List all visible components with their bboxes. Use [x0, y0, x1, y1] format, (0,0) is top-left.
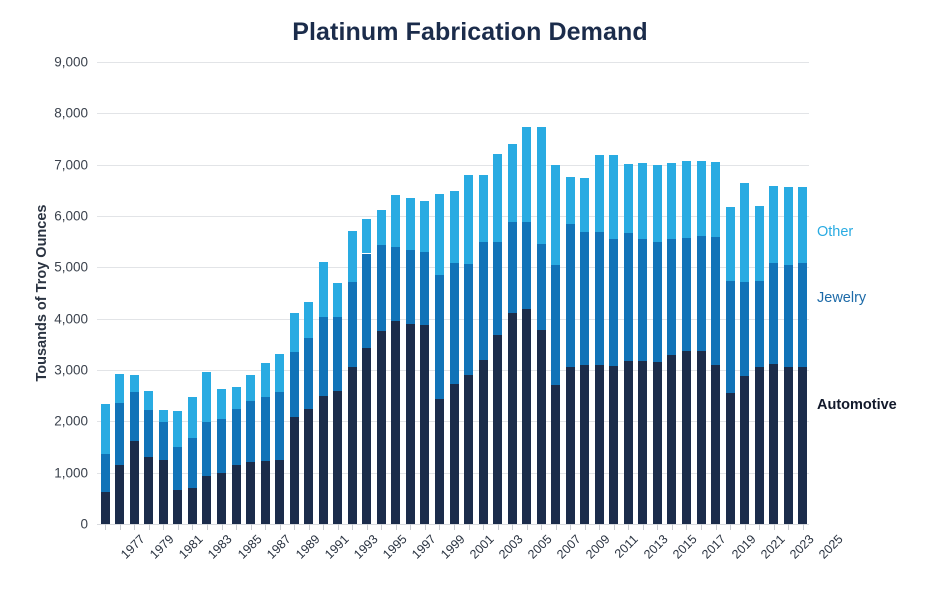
x-axis-tick-label: 2011 — [612, 532, 641, 561]
x-axis-tick-label: 1987 — [264, 532, 294, 562]
bar-segment-other[interactable] — [522, 127, 531, 221]
bar-segment-automotive[interactable] — [653, 362, 662, 524]
x-axis-tick-mark — [628, 524, 629, 530]
x-axis-tick-mark — [512, 524, 513, 530]
bar-segment-automotive[interactable] — [130, 441, 139, 524]
x-axis-tick-label: 2019 — [729, 532, 759, 562]
x-axis-tick-label: 2021 — [758, 532, 788, 562]
bar-segment-automotive[interactable] — [580, 365, 589, 524]
bar-segment-other[interactable] — [580, 178, 589, 233]
bar-segment-jewelry[interactable] — [798, 263, 807, 367]
bar-segment-jewelry[interactable] — [551, 265, 560, 385]
bar-segment-automotive[interactable] — [290, 417, 299, 524]
bar-segment-other[interactable] — [362, 219, 371, 254]
bar-group[interactable] — [697, 161, 706, 524]
bar-group[interactable] — [246, 375, 255, 524]
bar-segment-other[interactable] — [624, 164, 633, 233]
x-axis-tick-label: 2017 — [700, 532, 730, 562]
bar-segment-other[interactable] — [493, 154, 502, 241]
x-axis-tick-mark — [236, 524, 237, 530]
bar-group[interactable] — [798, 187, 807, 524]
page-title: Platinum Fabrication Demand — [0, 18, 940, 47]
bar-segment-other[interactable] — [348, 231, 357, 282]
bar-segment-jewelry[interactable] — [682, 238, 691, 350]
bar-segment-other[interactable] — [464, 175, 473, 264]
bar-segment-other[interactable] — [435, 194, 444, 274]
bar-segment-other[interactable] — [508, 144, 517, 222]
bar-segment-other[interactable] — [653, 165, 662, 242]
bar-group[interactable] — [624, 164, 633, 524]
bar-segment-other[interactable] — [391, 195, 400, 246]
bar-segment-jewelry[interactable] — [740, 282, 749, 376]
bar-group[interactable] — [551, 165, 560, 524]
bar-segment-jewelry[interactable] — [159, 422, 168, 460]
bar-segment-other[interactable] — [304, 302, 313, 338]
bar-group[interactable] — [653, 165, 662, 524]
bar-segment-jewelry[interactable] — [450, 263, 459, 384]
bars-layer — [97, 62, 809, 524]
bar-group[interactable] — [682, 161, 691, 524]
bar-group[interactable] — [130, 375, 139, 524]
bar-group[interactable] — [261, 363, 270, 524]
bar-segment-jewelry[interactable] — [115, 403, 124, 465]
bar-segment-automotive[interactable] — [391, 321, 400, 524]
bar-segment-jewelry[interactable] — [101, 454, 110, 492]
bar-segment-automotive[interactable] — [202, 476, 211, 524]
bar-segment-jewelry[interactable] — [232, 409, 241, 465]
bar-segment-jewelry[interactable] — [435, 275, 444, 400]
bar-segment-automotive[interactable] — [450, 384, 459, 524]
bar-group[interactable] — [493, 154, 502, 524]
bar-segment-automotive[interactable] — [755, 367, 764, 524]
bar-segment-jewelry[interactable] — [566, 224, 575, 367]
x-axis-tick-label: 1979 — [147, 532, 177, 562]
bar-segment-automotive[interactable] — [638, 361, 647, 524]
bar-segment-jewelry[interactable] — [304, 338, 313, 408]
x-axis-tick-mark — [541, 524, 542, 530]
bar-group[interactable] — [144, 391, 153, 524]
legend-item-jewelry[interactable]: Jewelry — [817, 290, 866, 306]
bar-segment-automotive[interactable] — [362, 348, 371, 524]
bar-segment-jewelry[interactable] — [275, 392, 284, 460]
bar-segment-other[interactable] — [798, 187, 807, 263]
x-axis-tick-mark — [686, 524, 687, 530]
bar-segment-jewelry[interactable] — [406, 250, 415, 324]
bar-segment-other[interactable] — [290, 313, 299, 352]
x-axis-tick-mark — [134, 524, 135, 530]
x-axis-tick-label: 2005 — [525, 532, 555, 562]
bar-segment-automotive[interactable] — [508, 313, 517, 524]
bar-segment-other[interactable] — [595, 155, 604, 232]
y-axis-tick-label: 3,000 — [18, 363, 88, 378]
x-axis-tick-mark — [222, 524, 223, 530]
bar-segment-automotive[interactable] — [522, 309, 531, 524]
bar-segment-other[interactable] — [479, 175, 488, 242]
bar-segment-automotive[interactable] — [333, 391, 342, 524]
x-axis-tick-mark — [759, 524, 760, 530]
x-axis-tick-mark — [294, 524, 295, 530]
x-axis-tick-mark — [469, 524, 470, 530]
bar-segment-automotive[interactable] — [537, 330, 546, 524]
x-axis-tick-label: 2009 — [583, 532, 613, 562]
bar-segment-automotive[interactable] — [798, 367, 807, 524]
bar-segment-automotive[interactable] — [173, 490, 182, 524]
bar-segment-other[interactable] — [217, 389, 226, 419]
bar-group[interactable] — [115, 374, 124, 524]
chart-container: Platinum Fabrication Demand Tousands of … — [0, 0, 940, 600]
x-axis-tick-mark — [745, 524, 746, 530]
bar-group[interactable] — [711, 162, 720, 524]
bar-segment-automotive[interactable] — [784, 367, 793, 524]
bar-segment-other[interactable] — [609, 155, 618, 239]
bar-segment-other[interactable] — [261, 363, 270, 396]
bar-segment-jewelry[interactable] — [711, 237, 720, 365]
x-axis-tick-mark — [425, 524, 426, 530]
x-axis-tick-label: 1989 — [293, 532, 323, 562]
x-axis-tick-mark — [105, 524, 106, 530]
bar-group[interactable] — [188, 397, 197, 524]
bar-segment-jewelry[interactable] — [362, 254, 371, 349]
bar-segment-jewelry[interactable] — [667, 239, 676, 355]
bar-group[interactable] — [275, 354, 284, 524]
bar-group[interactable] — [508, 144, 517, 524]
bar-segment-jewelry[interactable] — [290, 352, 299, 418]
legend-item-automotive[interactable]: Automotive — [817, 397, 897, 413]
x-axis-tick-mark — [149, 524, 150, 530]
bar-group[interactable] — [667, 163, 676, 524]
bar-segment-other[interactable] — [406, 198, 415, 250]
bar-segment-jewelry[interactable] — [609, 239, 618, 366]
x-axis-tick-mark — [323, 524, 324, 530]
bar-segment-other[interactable] — [333, 283, 342, 317]
bar-group[interactable] — [609, 155, 618, 524]
bar-segment-automotive[interactable] — [232, 465, 241, 524]
bar-segment-other[interactable] — [769, 186, 778, 262]
bar-segment-automotive[interactable] — [493, 335, 502, 524]
bar-segment-automotive[interactable] — [740, 376, 749, 524]
bar-group[interactable] — [755, 206, 764, 524]
bar-segment-other[interactable] — [144, 391, 153, 411]
y-axis-title: Tousands of Troy Ounces — [34, 163, 50, 423]
x-axis-tick-label: 2001 — [467, 532, 497, 562]
plot-area: 1977197919811983198519871989199119931995… — [97, 62, 809, 524]
bar-segment-automotive[interactable] — [726, 393, 735, 524]
x-axis-tick-label: 1983 — [206, 532, 236, 562]
y-axis-tick-label: 2,000 — [18, 414, 88, 429]
x-axis-tick-mark — [251, 524, 252, 530]
bar-group[interactable] — [319, 262, 328, 524]
gridline — [97, 524, 809, 525]
bar-segment-jewelry[interactable] — [464, 264, 473, 375]
bar-segment-jewelry[interactable] — [493, 242, 502, 335]
x-axis-tick-mark — [178, 524, 179, 530]
bar-segment-jewelry[interactable] — [261, 397, 270, 461]
bar-segment-other[interactable] — [667, 163, 676, 239]
bar-segment-other[interactable] — [784, 187, 793, 265]
bar-segment-jewelry[interactable] — [769, 263, 778, 364]
x-axis-tick-mark — [352, 524, 353, 530]
bar-segment-automotive[interactable] — [595, 365, 604, 524]
x-axis-tick-mark — [774, 524, 775, 530]
bar-group[interactable] — [726, 207, 735, 524]
bar-segment-other[interactable] — [377, 210, 386, 244]
bar-segment-automotive[interactable] — [479, 360, 488, 524]
bar-segment-automotive[interactable] — [304, 409, 313, 525]
bar-segment-jewelry[interactable] — [130, 392, 139, 441]
y-axis-tick-label: 7,000 — [18, 157, 88, 172]
bar-segment-automotive[interactable] — [115, 465, 124, 524]
x-axis-tick-mark — [338, 524, 339, 530]
bar-group[interactable] — [232, 387, 241, 524]
bar-segment-other[interactable] — [232, 387, 241, 409]
bar-segment-automotive[interactable] — [217, 473, 226, 524]
x-axis-tick-mark — [585, 524, 586, 530]
x-axis-tick-mark — [483, 524, 484, 530]
bar-segment-other[interactable] — [275, 354, 284, 392]
x-axis-tick-mark — [498, 524, 499, 530]
bar-segment-other[interactable] — [755, 206, 764, 281]
bar-segment-jewelry[interactable] — [391, 247, 400, 321]
bar-group[interactable] — [537, 127, 546, 524]
bar-group[interactable] — [406, 198, 415, 524]
x-axis-tick-mark — [788, 524, 789, 530]
bar-segment-other[interactable] — [697, 161, 706, 236]
bar-segment-automotive[interactable] — [435, 399, 444, 524]
x-axis-tick-mark — [120, 524, 121, 530]
bar-segment-automotive[interactable] — [682, 351, 691, 525]
bar-segment-jewelry[interactable] — [420, 252, 429, 325]
bar-group[interactable] — [769, 186, 778, 524]
x-axis-tick-mark — [556, 524, 557, 530]
bar-segment-jewelry[interactable] — [580, 232, 589, 364]
bar-segment-other[interactable] — [202, 372, 211, 422]
bar-group[interactable] — [580, 178, 589, 525]
bar-segment-other[interactable] — [551, 165, 560, 265]
x-axis-tick-mark — [527, 524, 528, 530]
bar-segment-automotive[interactable] — [624, 361, 633, 524]
x-axis-tick-mark — [163, 524, 164, 530]
y-axis-tick-label: 0 — [18, 517, 88, 532]
x-axis-tick-label: 1981 — [177, 532, 207, 562]
bar-segment-other[interactable] — [726, 207, 735, 281]
bar-segment-automotive[interactable] — [101, 492, 110, 524]
bar-segment-other[interactable] — [188, 397, 197, 438]
x-axis-tick-mark — [701, 524, 702, 530]
bar-segment-automotive[interactable] — [566, 367, 575, 524]
x-axis-tick-label: 2013 — [642, 532, 672, 562]
bar-segment-automotive[interactable] — [275, 460, 284, 524]
bar-group[interactable] — [450, 191, 459, 524]
bar-segment-jewelry[interactable] — [188, 438, 197, 488]
bar-segment-jewelry[interactable] — [333, 317, 342, 391]
bar-segment-automotive[interactable] — [667, 355, 676, 524]
bar-group[interactable] — [391, 195, 400, 524]
bar-segment-other[interactable] — [450, 191, 459, 263]
bar-segment-automotive[interactable] — [769, 364, 778, 524]
y-axis-tick-label: 4,000 — [18, 311, 88, 326]
bar-segment-jewelry[interactable] — [624, 233, 633, 361]
x-axis-tick-mark — [803, 524, 804, 530]
x-axis-tick-label: 1991 — [322, 532, 352, 562]
bar-group[interactable] — [173, 411, 182, 524]
bar-segment-jewelry[interactable] — [595, 232, 604, 364]
bar-segment-other[interactable] — [319, 262, 328, 317]
x-axis-tick-mark — [716, 524, 717, 530]
bar-group[interactable] — [159, 410, 168, 524]
x-axis-tick-label: 1985 — [235, 532, 265, 562]
x-axis-tick-mark — [570, 524, 571, 530]
bar-segment-automotive[interactable] — [420, 325, 429, 524]
bar-segment-jewelry[interactable] — [217, 419, 226, 472]
x-axis-tick-label: 1997 — [409, 532, 439, 562]
bar-segment-other[interactable] — [740, 183, 749, 282]
bar-group[interactable] — [420, 201, 429, 524]
x-axis-tick-label: 2025 — [816, 532, 846, 562]
bar-segment-automotive[interactable] — [406, 324, 415, 524]
bar-segment-automotive[interactable] — [348, 367, 357, 524]
bar-segment-other[interactable] — [537, 127, 546, 244]
x-axis-tick-label: 1977 — [118, 532, 148, 562]
bar-segment-jewelry[interactable] — [508, 222, 517, 313]
x-axis-tick-mark — [454, 524, 455, 530]
bar-group[interactable] — [479, 175, 488, 524]
x-axis-tick-mark — [280, 524, 281, 530]
bar-segment-other[interactable] — [638, 163, 647, 239]
bar-group[interactable] — [566, 177, 575, 524]
x-axis-tick-label: 2003 — [496, 532, 526, 562]
bar-group[interactable] — [217, 389, 226, 524]
bar-segment-jewelry[interactable] — [246, 401, 255, 463]
x-axis-tick-mark — [614, 524, 615, 530]
bar-segment-automotive[interactable] — [246, 462, 255, 524]
bar-segment-other[interactable] — [420, 201, 429, 252]
x-axis-tick-mark — [309, 524, 310, 530]
x-axis-tick-label: 1995 — [380, 532, 410, 562]
x-axis-tick-mark — [643, 524, 644, 530]
x-axis-tick-mark — [207, 524, 208, 530]
y-axis-tick-label: 6,000 — [18, 209, 88, 224]
y-axis-tick-label: 5,000 — [18, 260, 88, 275]
bar-segment-other[interactable] — [246, 375, 255, 401]
bar-segment-automotive[interactable] — [261, 461, 270, 524]
x-axis-tick-mark — [396, 524, 397, 530]
x-axis-tick-mark — [192, 524, 193, 530]
bar-segment-jewelry[interactable] — [144, 410, 153, 457]
x-axis-tick-label: 1999 — [438, 532, 468, 562]
x-axis-tick-mark — [599, 524, 600, 530]
x-axis-tick-mark — [381, 524, 382, 530]
bar-group[interactable] — [522, 127, 531, 524]
bar-segment-automotive[interactable] — [159, 460, 168, 524]
bar-segment-jewelry[interactable] — [697, 236, 706, 352]
bar-segment-automotive[interactable] — [377, 331, 386, 524]
bar-segment-automotive[interactable] — [319, 396, 328, 524]
bar-group[interactable] — [333, 283, 342, 524]
bar-segment-jewelry[interactable] — [653, 242, 662, 363]
bar-group[interactable] — [290, 313, 299, 524]
bar-group[interactable] — [377, 210, 386, 524]
bar-segment-other[interactable] — [159, 410, 168, 422]
bar-group[interactable] — [784, 187, 793, 524]
bar-segment-other[interactable] — [566, 177, 575, 224]
x-axis-tick-mark — [265, 524, 266, 530]
x-axis-tick-mark — [730, 524, 731, 530]
bar-group[interactable] — [101, 404, 110, 524]
bar-segment-other[interactable] — [173, 411, 182, 447]
x-axis-tick-mark — [672, 524, 673, 530]
x-axis-tick-label: 2023 — [787, 532, 817, 562]
bar-segment-jewelry[interactable] — [755, 281, 764, 367]
bar-group[interactable] — [348, 231, 357, 524]
bar-segment-automotive[interactable] — [144, 457, 153, 524]
bar-segment-jewelry[interactable] — [377, 245, 386, 331]
bar-segment-automotive[interactable] — [697, 351, 706, 524]
bar-segment-automotive[interactable] — [711, 365, 720, 524]
y-axis-tick-label: 1,000 — [18, 465, 88, 480]
bar-segment-jewelry[interactable] — [348, 282, 357, 367]
bar-group[interactable] — [362, 219, 371, 524]
bar-segment-automotive[interactable] — [609, 366, 618, 524]
bar-segment-other[interactable] — [130, 375, 139, 392]
bar-segment-other[interactable] — [115, 374, 124, 404]
x-axis-tick-label: 1993 — [351, 532, 381, 562]
bar-segment-jewelry[interactable] — [522, 222, 531, 310]
x-axis-tick-mark — [410, 524, 411, 530]
bar-group[interactable] — [202, 372, 211, 524]
bar-segment-jewelry[interactable] — [638, 239, 647, 361]
bar-segment-jewelry[interactable] — [784, 265, 793, 367]
bar-segment-jewelry[interactable] — [479, 242, 488, 360]
x-axis-tick-mark — [439, 524, 440, 530]
bar-group[interactable] — [304, 302, 313, 524]
bar-segment-automotive[interactable] — [464, 375, 473, 524]
x-axis-tick-mark — [657, 524, 658, 530]
bar-group[interactable] — [740, 183, 749, 524]
y-axis-tick-label: 8,000 — [18, 106, 88, 121]
x-axis-tick-label: 2007 — [554, 532, 584, 562]
y-axis-tick-label: 9,000 — [18, 55, 88, 70]
bar-group[interactable] — [638, 163, 647, 524]
bar-group[interactable] — [464, 175, 473, 524]
bar-segment-jewelry[interactable] — [726, 281, 735, 392]
legend-item-other[interactable]: Other — [817, 224, 853, 240]
bar-group[interactable] — [435, 194, 444, 524]
bar-group[interactable] — [595, 155, 604, 524]
bar-segment-other[interactable] — [101, 404, 110, 453]
bar-segment-jewelry[interactable] — [173, 447, 182, 490]
bar-segment-jewelry[interactable] — [537, 244, 546, 330]
bar-segment-other[interactable] — [682, 161, 691, 238]
bar-segment-other[interactable] — [711, 162, 720, 236]
bar-segment-jewelry[interactable] — [202, 422, 211, 476]
bar-segment-jewelry[interactable] — [319, 317, 328, 396]
x-axis-tick-label: 2015 — [671, 532, 701, 562]
bar-segment-automotive[interactable] — [551, 385, 560, 524]
bar-segment-automotive[interactable] — [188, 488, 197, 524]
x-axis-tick-mark — [367, 524, 368, 530]
